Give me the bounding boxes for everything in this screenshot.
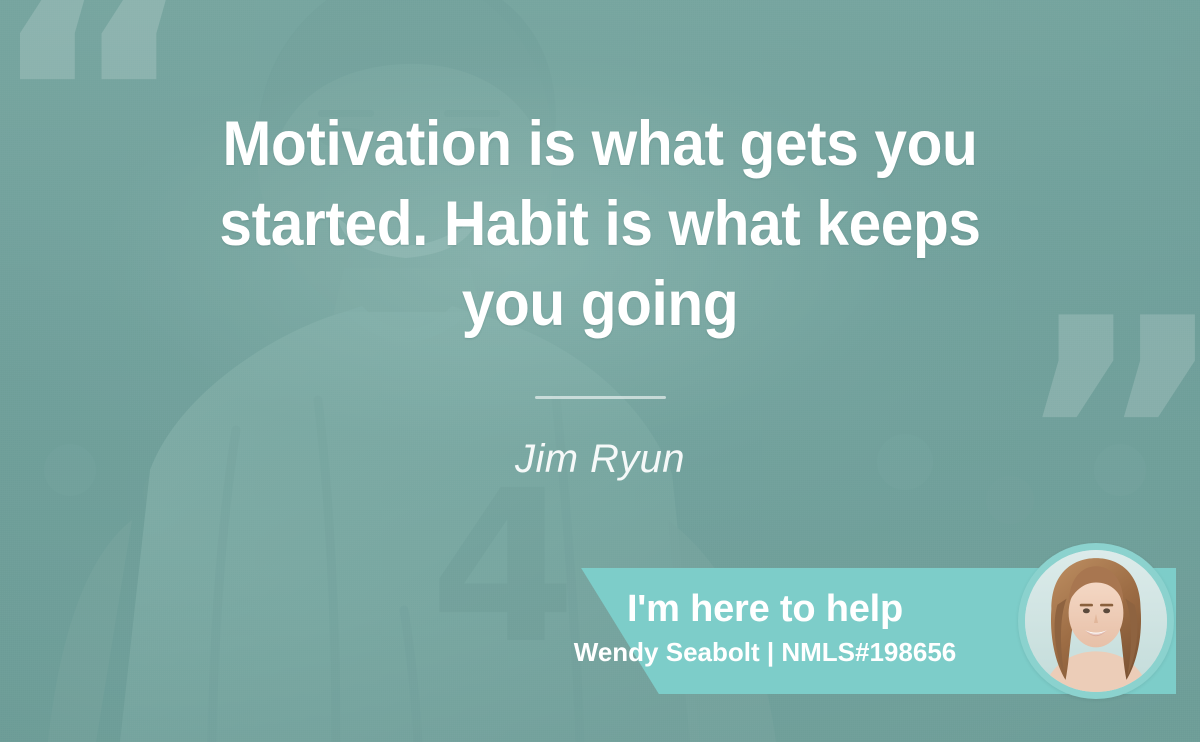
avatar — [1018, 543, 1174, 699]
quote-line-2: started. Habit is what keeps — [182, 184, 1019, 264]
avatar-photo — [1025, 550, 1167, 692]
quote-line-3: you going — [182, 264, 1019, 344]
quote-line-1: Motivation is what gets you — [182, 104, 1019, 184]
quote-graphic-canvas: 4 “ ” Motivation is what gets you starte… — [0, 0, 1200, 742]
quote-divider — [535, 396, 666, 399]
quote-author: Jim Ryun — [150, 435, 1050, 483]
quote-block: Motivation is what gets you started. Hab… — [150, 104, 1050, 344]
